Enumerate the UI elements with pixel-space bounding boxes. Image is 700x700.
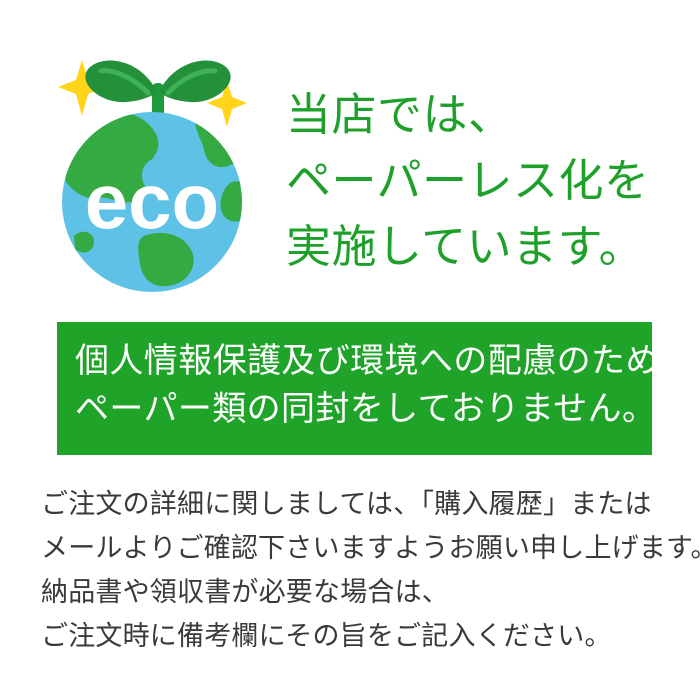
headline: 当店では、 ペーパーレス化を 実施しています。: [286, 82, 686, 280]
eco-wordmark: eco: [85, 157, 219, 245]
note-line-3: 納品書や領収書が必要な場合は、: [41, 570, 681, 614]
note-line-4: ご注文時に備考欄にその旨をご記入ください。: [41, 614, 681, 658]
eco-earth-logo: eco: [56, 50, 261, 295]
banner-line-2: ペーパー類の同封をしておりません。: [75, 385, 660, 433]
order-notes: ご注文の詳細に関しましては、「購入履歴」または メールよりご確認下さいますようお…: [41, 482, 681, 658]
sprout-leaf-left-icon: [85, 60, 157, 102]
paperless-banner: 個人情報保護及び環境への配慮のため ペーパー類の同封をしておりません。: [57, 322, 652, 455]
headline-line-2: ペーパーレス化を: [286, 148, 686, 214]
banner-line-1: 個人情報保護及び環境への配慮のため: [75, 337, 660, 385]
sprout-leaf-right-icon: [159, 60, 231, 102]
globe-icon: eco: [62, 110, 253, 295]
headline-line-3: 実施しています。: [286, 214, 686, 280]
note-line-2: メールよりご確認下さいますようお願い申し上げます。: [41, 526, 681, 570]
banner-text-block: 個人情報保護及び環境への配慮のため ペーパー類の同封をしておりません。: [75, 337, 660, 433]
note-line-1: ご注文の詳細に関しましては、「購入履歴」または: [41, 482, 681, 526]
page-root: eco 当店では、 ペーパーレス化を 実施しています。 個人情報保護及び環境への…: [0, 0, 700, 700]
headline-line-1: 当店では、: [286, 82, 686, 148]
